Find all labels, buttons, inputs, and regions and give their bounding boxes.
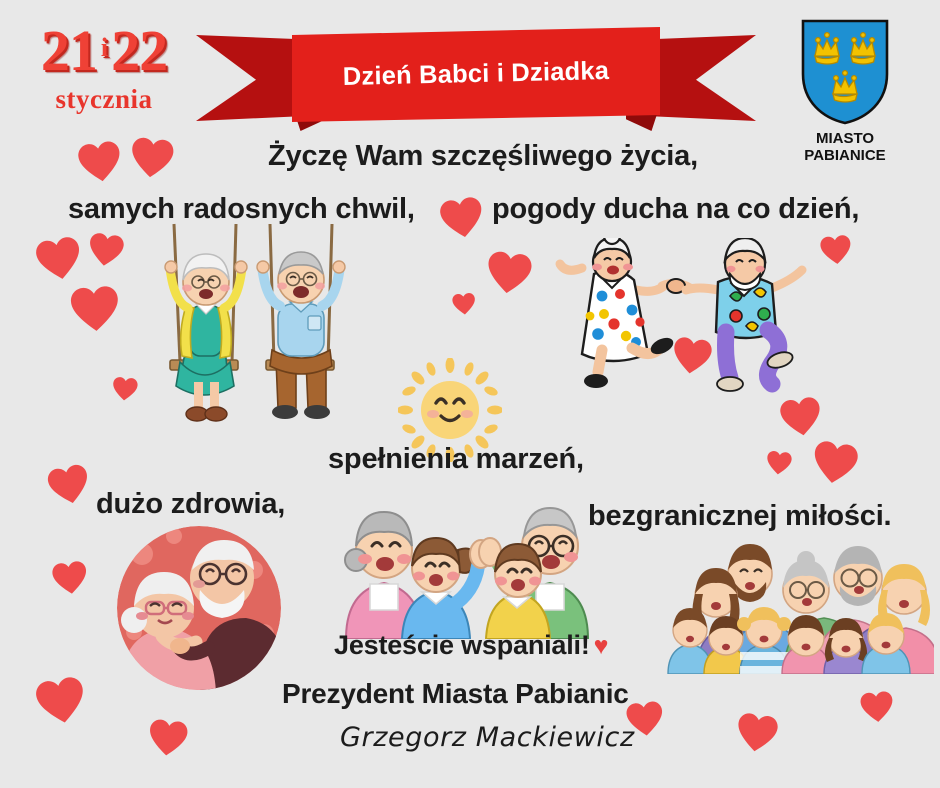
date-month: stycznia [14,84,194,115]
greeting-line-4: spełnienia marzeń, [328,443,584,476]
heart-icon [483,247,534,298]
date-numbers: 21i22 [14,22,194,80]
city-coat-of-arms: MIASTO PABIANICE [795,18,895,165]
heart-icon [128,134,176,182]
elderly-couple-portrait-illustration [104,522,294,694]
family-group-portrait-illustration [666,528,934,674]
date-conjunction: i [101,33,107,62]
shield-icon [799,18,891,126]
heart-icon [733,709,780,756]
heart-icon [451,291,477,317]
elderly-couple-on-swings-illustration [140,222,360,442]
signature-title: Prezydent Miasta Pabianic [282,678,629,710]
heart-icon: ♥ [594,632,609,660]
greeting-line-3: pogody ducha na co dzień, [492,193,859,226]
heart-icon [765,449,794,478]
dancing-elderly-couple-illustration [540,238,820,398]
heart-icon [111,375,139,403]
title-ribbon: Dzień Babci i Dziadka [196,27,756,135]
heart-icon [818,232,853,267]
ribbon-title-text: Dzień Babci i Dziadka [291,23,661,126]
heart-icon [75,137,125,187]
heart-icon [146,716,190,760]
heart-icon [437,193,487,243]
grandparents-with-grandchildren-illustration [336,484,626,639]
greeting-card: 21i22 stycznia Dzień Babci i Dziadka [0,0,940,788]
greeting-line-2: samych radosnych chwil, [68,193,415,226]
heart-icon [86,230,127,271]
greeting-line-6: bezgranicznej miłości. [588,500,891,533]
heart-icon [32,672,90,730]
heart-icon [859,689,896,726]
date-day-first: 21 [41,18,97,83]
greeting-line-5: dużo zdrowia, [96,488,285,521]
heart-icon [32,232,85,285]
heart-icon [809,437,862,490]
signature-exclamation-text: Jesteście wspaniali! [334,630,590,660]
event-date: 21i22 stycznia [14,22,194,115]
greeting-line-1: Życzę Wam szczęśliwego życia, [268,140,698,173]
heart-icon [50,558,90,598]
coa-label-line1: MIASTO [795,131,895,148]
signature-exclamation: Jesteście wspaniali!♥ [334,630,608,661]
coa-label-line2: PABIANICE [795,148,895,165]
date-day-second: 22 [111,18,167,83]
coat-of-arms-label: MIASTO PABIANICE [795,131,895,165]
heart-icon [68,282,121,335]
signature-name: Grzegorz Mackiewicz [340,722,635,753]
heart-icon [777,393,824,440]
heart-icon [44,460,94,510]
